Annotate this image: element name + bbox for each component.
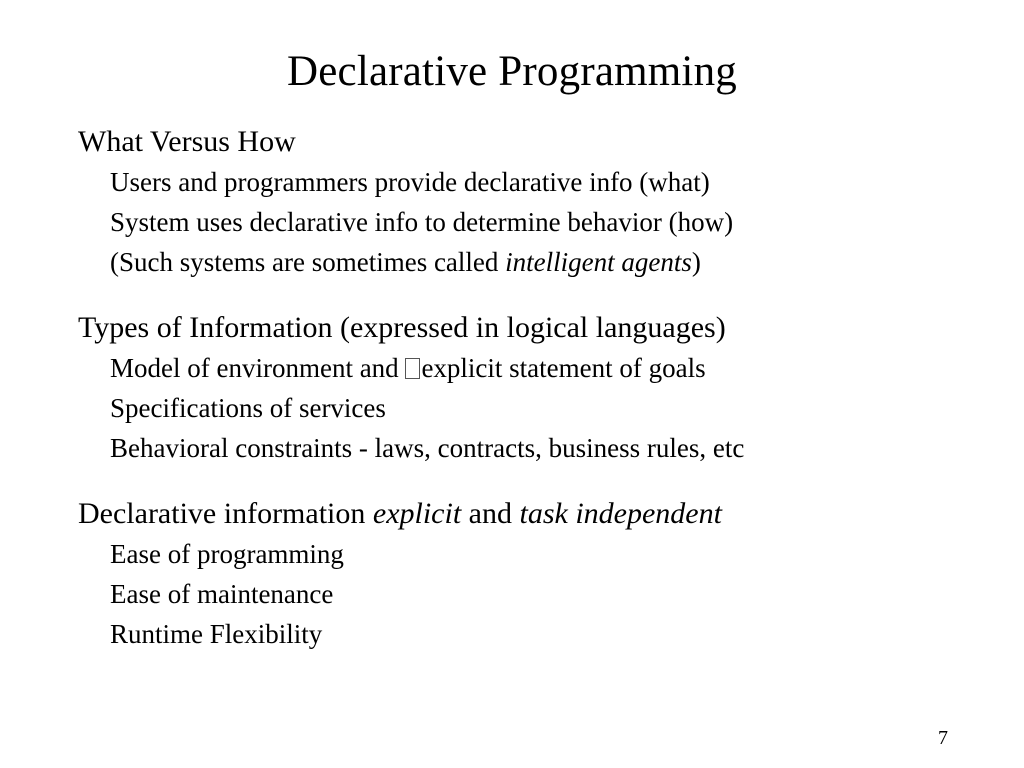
missing-glyph-box-icon — [405, 358, 420, 379]
section-what-versus-how: What Versus How Users and programmers pr… — [78, 122, 978, 282]
list-item: (Such systems are sometimes called intel… — [110, 242, 978, 282]
list-item-text-italic: intelligent agents — [505, 247, 692, 277]
section-heading: Declarative information explicit and tas… — [78, 494, 978, 534]
list-item-text-lead: (Such systems are sometimes called — [110, 247, 505, 277]
sub-list: Users and programmers provide declarativ… — [78, 162, 978, 282]
list-item: Users and programmers provide declarativ… — [110, 162, 978, 202]
slide-canvas: Declarative Programming What Versus How … — [0, 0, 1024, 768]
list-item: System uses declarative info to determin… — [110, 202, 978, 242]
section-heading-italic-explicit: explicit — [373, 497, 461, 530]
section-heading: What Versus How — [78, 122, 978, 162]
slide-body: What Versus How Users and programmers pr… — [78, 122, 978, 654]
list-item: Model of environment and explicit statem… — [110, 348, 978, 388]
list-item: Specifications of services — [110, 388, 978, 428]
section-heading-middle: and — [461, 497, 519, 530]
sub-list: Ease of programming Ease of maintenance … — [78, 534, 978, 654]
list-item: Runtime Flexibility — [110, 614, 978, 654]
list-item-text-tail: explicit statement of goals — [421, 353, 705, 383]
page-title: Declarative Programming — [0, 47, 1024, 97]
list-item: Ease of programming — [110, 534, 978, 574]
list-item: Behavioral constraints - laws, contracts… — [110, 428, 978, 468]
list-item: Ease of maintenance — [110, 574, 978, 614]
section-types-of-information: Types of Information (expressed in logic… — [78, 308, 978, 468]
section-heading-lead: Declarative information — [78, 497, 373, 530]
page-number: 7 — [938, 726, 948, 750]
section-declarative-information: Declarative information explicit and tas… — [78, 494, 978, 654]
section-heading: Types of Information (expressed in logic… — [78, 308, 978, 348]
sub-list: Model of environment and explicit statem… — [78, 348, 978, 468]
list-item-text-tail: ) — [692, 247, 701, 277]
section-heading-italic-task-independent: task independent — [520, 497, 722, 530]
list-item-text-lead: Model of environment and — [110, 353, 405, 383]
